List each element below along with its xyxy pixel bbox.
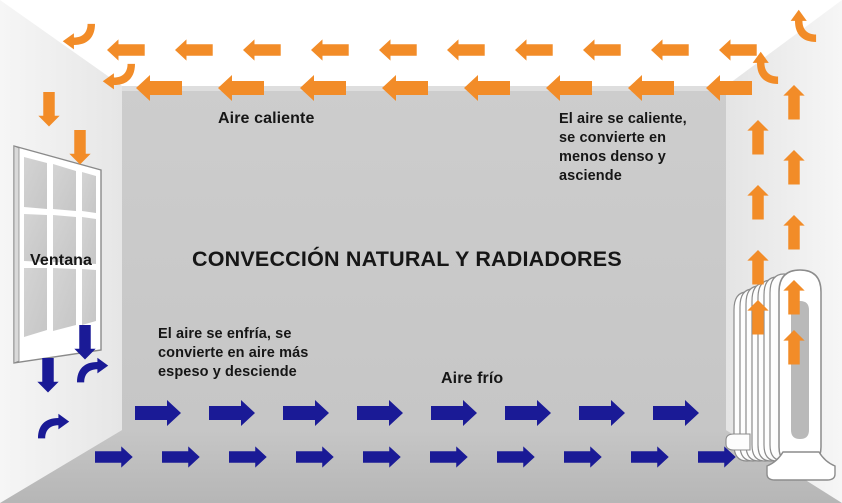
radiator-base-tab [726, 434, 750, 450]
convection-diagram: Aire caliente Aire frío Ventana CONVECCI… [0, 0, 842, 503]
label-hot-air: Aire caliente [218, 108, 314, 129]
radiator-slot [791, 301, 809, 439]
label-window: Ventana [30, 250, 92, 271]
note-hot-air-rises: El aire se caliente, se convierte en men… [559, 110, 739, 187]
window-panes [24, 157, 96, 337]
label-cold-air: Aire frío [441, 368, 503, 389]
page-title: CONVECCIÓN NATURAL Y RADIADORES [192, 245, 622, 273]
ceiling-edge-highlight [122, 86, 726, 91]
note-cold-air-descends: El aire se enfría, se convierte en aire … [158, 325, 353, 382]
floor [0, 430, 842, 503]
radiator [726, 270, 835, 480]
ceiling-fill [0, 0, 842, 96]
window-reveal [14, 146, 19, 363]
